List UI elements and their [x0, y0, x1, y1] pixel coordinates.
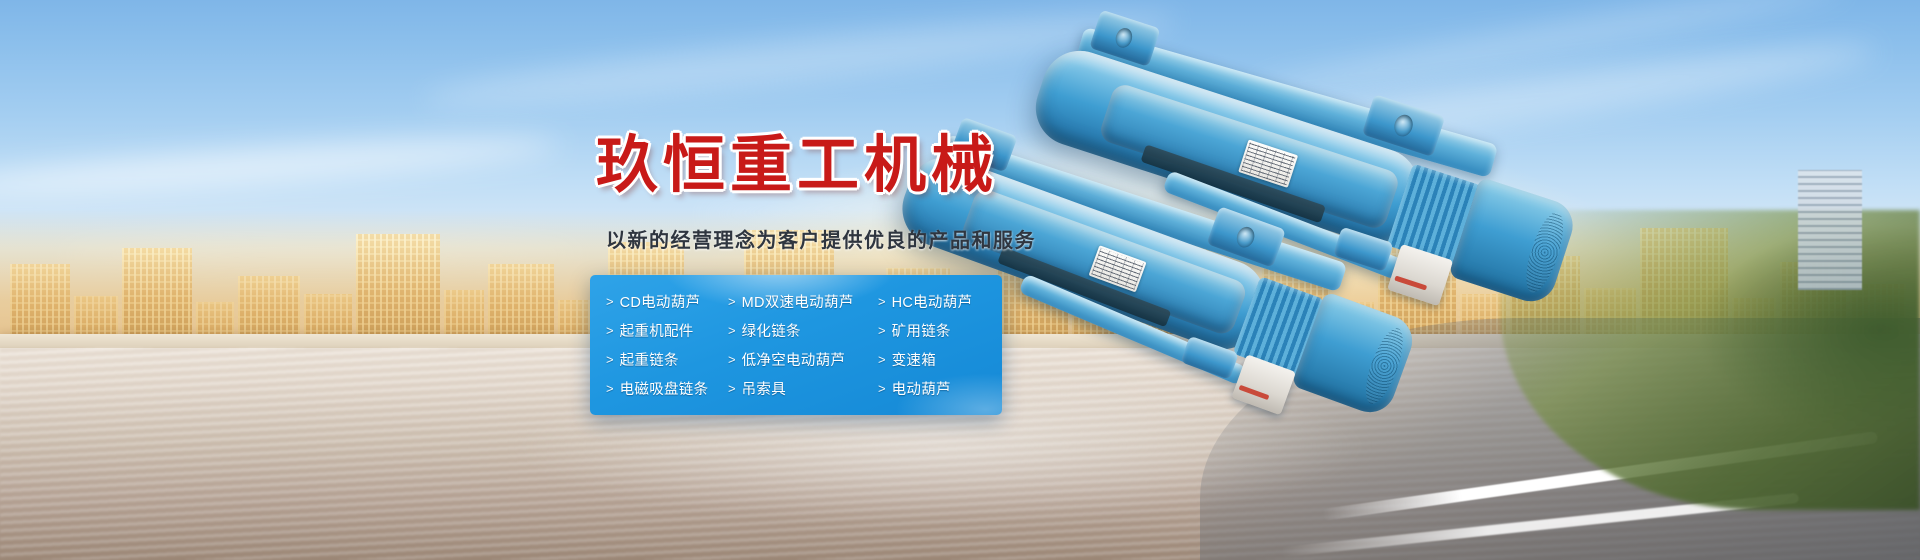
- product-link-lifting-chain[interactable]: > 起重链条: [606, 349, 728, 370]
- product-label: HC电动葫芦: [892, 291, 973, 312]
- chevron-right-icon: >: [878, 381, 886, 396]
- product-link-crane-parts[interactable]: > 起重机配件: [606, 320, 728, 341]
- product-link-hc-hoist[interactable]: > HC电动葫芦: [878, 291, 1002, 312]
- product-link-magnetic-chuck-chain[interactable]: > 电磁吸盘链条: [606, 378, 728, 399]
- product-label: CD电动葫芦: [620, 291, 701, 312]
- product-link-md-dual-speed-hoist[interactable]: > MD双速电动葫芦: [728, 291, 878, 312]
- product-link-gearbox[interactable]: > 变速箱: [878, 349, 1002, 370]
- cloud-wisp: [0, 128, 560, 205]
- product-label: MD双速电动葫芦: [742, 291, 854, 312]
- product-label: 吊索具: [742, 378, 786, 399]
- product-label: 电磁吸盘链条: [620, 378, 709, 399]
- product-link-slings[interactable]: > 吊索具: [728, 378, 878, 399]
- product-category-grid: > CD电动葫芦 > MD双速电动葫芦 > HC电动葫芦 > 起重机配件 > 绿…: [590, 275, 1002, 415]
- chevron-right-icon: >: [606, 294, 614, 309]
- product-link-mining-chain[interactable]: > 矿用链条: [878, 320, 1002, 341]
- product-label: 矿用链条: [892, 320, 951, 341]
- chevron-right-icon: >: [728, 294, 736, 309]
- chevron-right-icon: >: [878, 294, 886, 309]
- product-label: 起重机配件: [620, 320, 694, 341]
- product-label: 低净空电动葫芦: [742, 349, 846, 370]
- product-category-panel: > CD电动葫芦 > MD双速电动葫芦 > HC电动葫芦 > 起重机配件 > 绿…: [590, 275, 1002, 415]
- chevron-right-icon: >: [606, 352, 614, 367]
- product-label: 电动葫芦: [892, 378, 951, 399]
- chevron-right-icon: >: [878, 352, 886, 367]
- product-label: 绿化链条: [742, 320, 801, 341]
- chevron-right-icon: >: [606, 323, 614, 338]
- chevron-right-icon: >: [728, 352, 736, 367]
- chevron-right-icon: >: [606, 381, 614, 396]
- product-link-low-headroom-hoist[interactable]: > 低净空电动葫芦: [728, 349, 878, 370]
- page-title: 玖恒重工机械: [596, 114, 998, 204]
- product-link-greening-chain[interactable]: > 绿化链条: [728, 320, 878, 341]
- page-subtitle: 以新的经营理念为客户提供优良的产品和服务: [606, 224, 1036, 253]
- product-label: 起重链条: [620, 349, 679, 370]
- product-link-cd-hoist[interactable]: > CD电动葫芦: [606, 291, 728, 312]
- background-tower: [1798, 170, 1862, 290]
- product-label: 变速箱: [892, 349, 936, 370]
- chevron-right-icon: >: [728, 323, 736, 338]
- product-link-electric-hoist[interactable]: > 电动葫芦: [878, 378, 1002, 399]
- chevron-right-icon: >: [878, 323, 886, 338]
- chevron-right-icon: >: [728, 381, 736, 396]
- hero-banner: 玖恒重工机械 以新的经营理念为客户提供优良的产品和服务 > CD电动葫芦 > M…: [0, 0, 1920, 560]
